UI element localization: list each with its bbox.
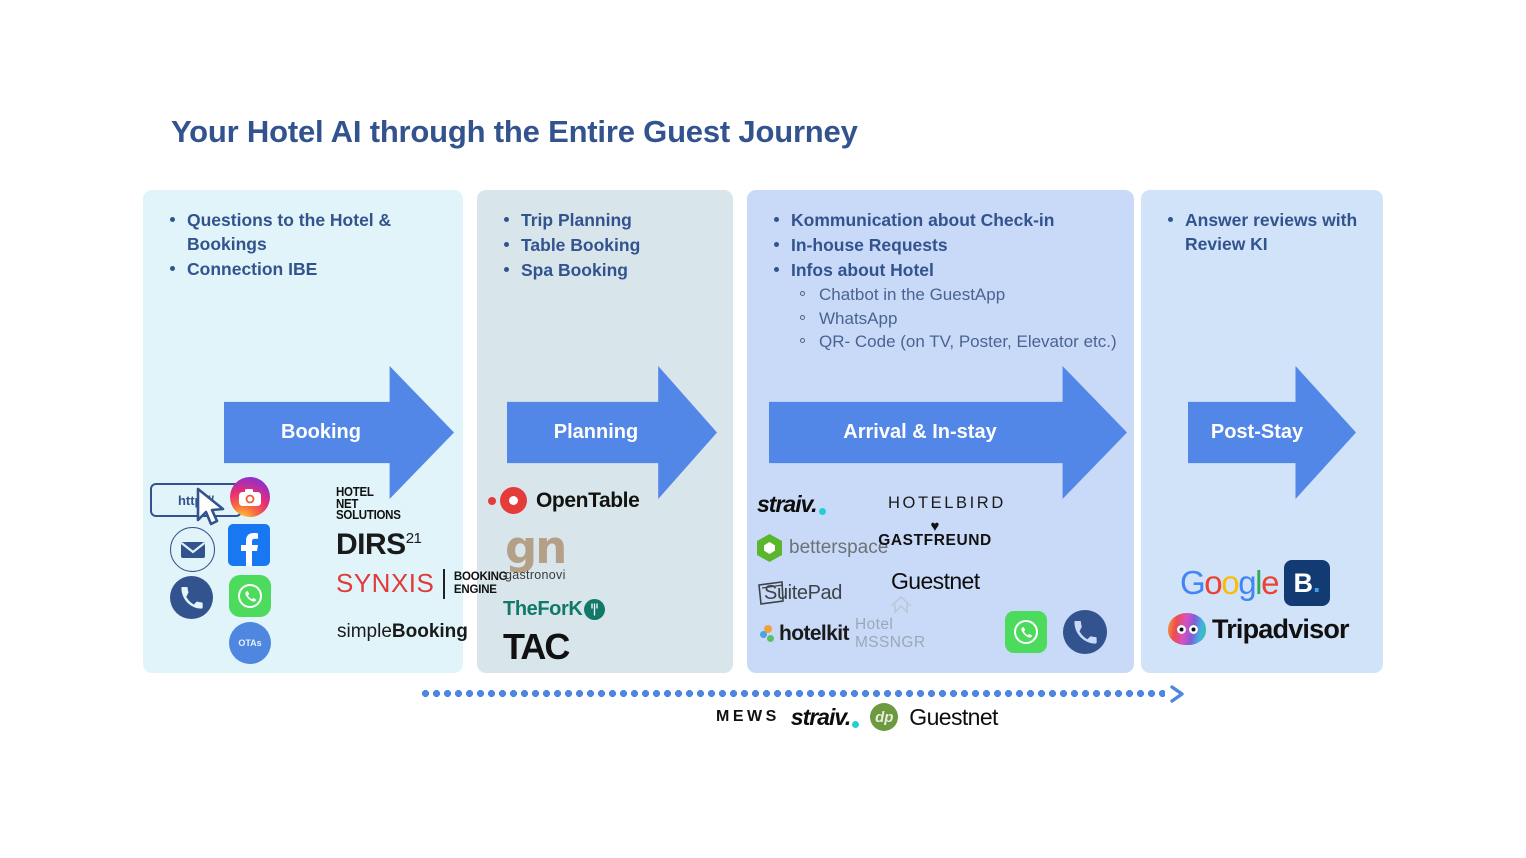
dirs21-logo: DIRS21 xyxy=(336,528,421,562)
hns-line-3: SOLUTIONS xyxy=(336,510,401,522)
guestnet-text: Guestnet xyxy=(891,568,980,595)
straiv-dot xyxy=(852,721,859,728)
stage-arrow-arrival-in-stay: Arrival & In-stay xyxy=(769,366,1127,499)
gastfreund-text: GASTFREUND xyxy=(878,532,992,550)
bullet-item: Table Booking xyxy=(495,233,719,257)
arrow-label: Planning xyxy=(554,421,638,444)
bullet-list-planning: Trip Planning Table Booking Spa Booking xyxy=(477,190,733,283)
straiv-logo: straiv. xyxy=(791,704,860,731)
tac-logo: TAC xyxy=(503,626,568,668)
betterspace-logo: betterspace xyxy=(757,534,888,562)
envelope-glyph xyxy=(180,541,206,559)
hotelbird-logo: HOTELBIRD xyxy=(888,494,1006,513)
dp-logo: dp xyxy=(870,703,898,731)
bullet-item: Kommunication about Check-in xyxy=(765,208,1120,232)
phone-handset-glyph xyxy=(1074,621,1097,644)
simple-text: simple xyxy=(337,621,392,642)
hotel-mssngr-logo: Hotel MSSNGR xyxy=(855,594,947,652)
google-letter-e: e xyxy=(1261,564,1278,601)
phone-icon xyxy=(1063,610,1107,654)
arrow-label: Arrival & In-stay xyxy=(843,421,996,444)
facebook-icon xyxy=(228,524,270,566)
simplebooking-logo: simpleBooking xyxy=(337,621,468,643)
hotelkit-text: hotelkit xyxy=(779,622,849,646)
booking-text: Booking xyxy=(392,621,468,642)
booking-letter: B xyxy=(1293,568,1313,599)
whatsapp-icon xyxy=(1005,611,1047,653)
guestnet-logo: Guestnet xyxy=(891,568,980,595)
opentable-small-dot xyxy=(488,497,496,505)
tac-text: TAC xyxy=(503,626,568,668)
phone-handset-glyph xyxy=(181,587,203,609)
hotelbird-text: HOTELBIRD xyxy=(888,494,1006,513)
betterspace-mark xyxy=(757,534,782,562)
hotelkit-mark xyxy=(760,625,776,643)
sub-bullet-item: QR- Code (on TV, Poster, Elevator etc.) xyxy=(791,330,1120,354)
synxis-text: SYNXIS xyxy=(336,568,434,599)
mssngr-mark xyxy=(888,594,914,616)
straiv-text: straiv. xyxy=(791,704,851,731)
opentable-mark xyxy=(500,487,527,514)
dirs-sup: 21 xyxy=(406,530,422,547)
guestnet-logo: Guestnet xyxy=(909,704,998,731)
tripadvisor-text: Tripadvisor xyxy=(1212,614,1349,645)
heart-icon: ♥ xyxy=(931,521,940,532)
synxis-engine: ENGINE xyxy=(454,584,508,597)
arrow-label: Booking xyxy=(281,421,361,444)
tripadvisor-owl-icon xyxy=(1168,613,1206,645)
journey-arrow-head-icon xyxy=(1168,684,1188,704)
camera-glyph xyxy=(238,488,262,507)
google-logo: Google xyxy=(1180,564,1278,602)
bullet-item: Infos about Hotel Chatbot in the GuestAp… xyxy=(765,258,1120,354)
straiv-text: straiv. xyxy=(757,491,817,518)
bullet-list-post-stay: Answer reviews with Review KI xyxy=(1141,190,1383,257)
hotelkit-logo: hotelkit xyxy=(760,622,849,646)
sub-bullet-item: Chatbot in the GuestApp xyxy=(791,283,1120,307)
gastronovi-text: gastronovi xyxy=(505,568,566,582)
bullet-item: Connection IBE xyxy=(161,257,449,281)
gastfreund-logo: ♥ GASTFREUND xyxy=(890,521,980,550)
dirs-text: DIRS xyxy=(336,528,406,561)
platform-logo-bar: MEWS straiv. dp Guestnet xyxy=(716,703,998,731)
tripadvisor-logo: Tripadvisor xyxy=(1168,613,1349,645)
sub-bullet-item: WhatsApp xyxy=(791,307,1120,331)
thefork-logo: TheForK xyxy=(503,598,605,621)
facebook-f-glyph xyxy=(238,530,260,566)
otas-icon: OTAs xyxy=(229,622,271,664)
google-letter-o2: o xyxy=(1221,564,1238,601)
bullet-list-arrival: Kommunication about Check-in In-house Re… xyxy=(747,190,1134,355)
journey-dotted-line xyxy=(420,688,1165,699)
booking-com-logo: B. xyxy=(1284,560,1330,606)
gastronovi-mark: gn xyxy=(505,528,565,568)
suitepad-logo: SuitePad xyxy=(756,580,842,606)
whatsapp-glyph xyxy=(1013,619,1039,645)
arrow-label: Post-Stay xyxy=(1211,421,1303,444)
slide-canvas: Your Hotel AI through the Entire Guest J… xyxy=(0,0,1526,858)
synxis-divider xyxy=(443,569,445,599)
gastronovi-logo: gn gastronovi xyxy=(505,528,566,582)
opentable-logo: OpenTable xyxy=(488,487,639,514)
bullet-item: Trip Planning xyxy=(495,208,719,232)
hotel-net-solutions-logo: HOTEL NET SOLUTIONS xyxy=(336,487,406,522)
whatsapp-icon xyxy=(229,575,271,617)
booking-dot: . xyxy=(1313,568,1321,599)
google-letter-o1: o xyxy=(1204,564,1221,601)
whatsapp-glyph xyxy=(237,583,263,609)
phone-icon xyxy=(170,576,213,619)
page-title: Your Hotel AI through the Entire Guest J… xyxy=(171,114,858,150)
suitepad-text: SuitePad xyxy=(764,582,842,605)
mssngr-text: Hotel MSSNGR xyxy=(855,616,947,652)
synxis-logo: SYNXIS BOOKING ENGINE xyxy=(336,568,507,599)
bullet-item: In-house Requests xyxy=(765,233,1120,257)
straiv-dot xyxy=(819,508,826,515)
thefork-text: TheForK xyxy=(503,598,582,621)
otas-label: OTAs xyxy=(229,622,271,664)
mews-logo: MEWS xyxy=(716,708,780,726)
google-letter-g1: G xyxy=(1180,564,1204,601)
bullet-item: Answer reviews with Review KI xyxy=(1159,208,1369,256)
bullet-item: Spa Booking xyxy=(495,258,719,282)
fork-glyph xyxy=(584,599,605,620)
email-icon xyxy=(170,527,215,572)
instagram-icon xyxy=(230,477,270,517)
google-letter-g2: g xyxy=(1238,564,1255,601)
bullet-item: Questions to the Hotel & Bookings xyxy=(161,208,449,256)
betterspace-text: betterspace xyxy=(789,537,888,559)
synxis-booking: BOOKING xyxy=(454,571,508,584)
straiv-logo: straiv. xyxy=(757,491,826,518)
mouse-cursor-icon xyxy=(196,487,228,527)
stage-arrow-post-stay: Post-Stay xyxy=(1188,366,1356,499)
opentable-text: OpenTable xyxy=(536,489,639,513)
bullet-list-booking: Questions to the Hotel & Bookings Connec… xyxy=(143,190,463,282)
stage-arrow-planning: Planning xyxy=(507,366,717,499)
